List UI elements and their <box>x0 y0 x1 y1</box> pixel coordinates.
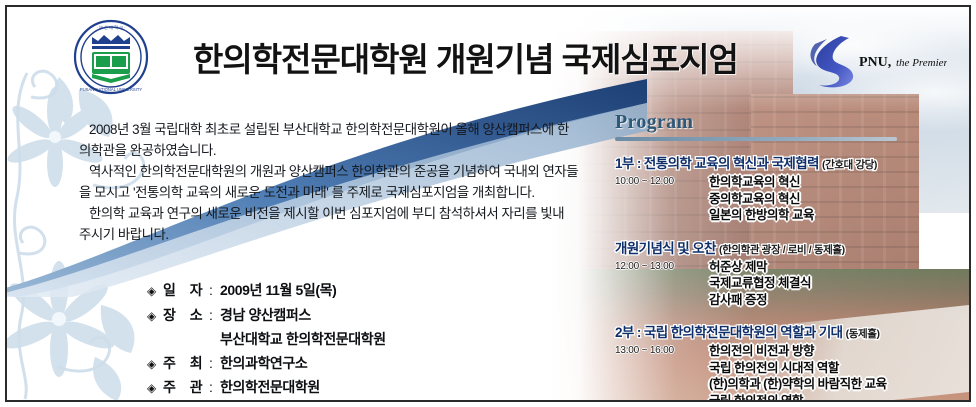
info-label-venue: 장 소 <box>163 304 209 328</box>
program-item: (한)의학과 (한)약학의 바람직한 교육 <box>709 376 971 393</box>
info-colon-host: : <box>209 352 220 376</box>
program-item: 일본의 한방의학 교육 <box>709 207 971 224</box>
info-value-date: 2009년 11월 5일(목) <box>220 279 336 303</box>
program-time-ceremony: 12:00 ~ 13:00 <box>615 259 697 309</box>
program-section-heading-part1: 1부 : 전통의학 교육의 혁신과 국제협력 (간호대 강당) <box>615 152 971 172</box>
program-items-ceremony: 허준상 제막 국제교류협정 체결식 감사패 증정 <box>697 259 971 309</box>
program-section-venue-part2: (동제홀) <box>846 328 880 340</box>
program-section-heading-ceremony: 개원기념식 및 오찬 (한의학관 광장 / 로비 / 동제홀) <box>615 237 971 257</box>
program-item: 국립 한의전의 시대적 역할 <box>709 360 971 377</box>
program-divider <box>615 137 897 141</box>
program-section-ceremony: 개원기념식 및 오찬 (한의학관 광장 / 로비 / 동제홀) 12:00 ~ … <box>615 237 971 309</box>
info-row-date: ◈ 일 자 : 2009년 11월 5일(목) <box>147 279 386 304</box>
pnu-the-premier-logo-icon: PNU, the Premier! <box>797 33 947 91</box>
program-section-title-part2: 2부 : 국립 한의학전문대학원의 역할과 기대 <box>615 325 843 340</box>
program-section-body-part1: 10:00 ~ 12:00 한의학교육의 혁신 중의학교육의 혁신 일본의 한방… <box>615 174 971 224</box>
program-section-venue-part1: (간호대 강당) <box>822 159 877 171</box>
info-row-venue: ◈ 장 소 : 경남 양산캠퍼스 <box>147 304 386 329</box>
info-colon-venue: : <box>209 304 220 328</box>
program-panel: Program 1부 : 전통의학 교육의 혁신과 국제협력 (간호대 강당) … <box>615 111 971 402</box>
svg-text:PUSAN NATIONAL UNIVERSITY: PUSAN NATIONAL UNIVERSITY <box>80 87 143 92</box>
program-heading: Program <box>615 111 971 134</box>
info-colon-organizer: : <box>209 376 220 400</box>
event-info-list: ◈ 일 자 : 2009년 11월 5일(목) ◈ 장 소 : 경남 양산캠퍼스… <box>147 279 386 401</box>
intro-text: 2008년 3월 국립대학 최초로 설립된 부산대학교 한의학전문대학원이 올해… <box>79 119 579 245</box>
program-items-part1: 한의학교육의 혁신 중의학교육의 혁신 일본의 한방의학 교육 <box>697 174 971 224</box>
info-label-organizer: 주 관 <box>163 376 209 400</box>
info-value-venue: 경남 양산캠퍼스 <box>220 304 311 328</box>
svg-text:PNU,: PNU, <box>859 55 891 70</box>
program-item: 한의전의 비전과 방향 <box>709 343 971 360</box>
program-item: 중의학교육의 혁신 <box>709 191 971 208</box>
info-label-host: 주 최 <box>163 352 209 376</box>
program-section-part2: 2부 : 국립 한의학전문대학원의 역할과 기대 (동제홀) 13:00 ~ 1… <box>615 321 971 402</box>
info-value-organizer: 한의학전문대학원 <box>220 376 320 400</box>
program-time-part1: 10:00 ~ 12:00 <box>615 174 697 224</box>
program-section-body-ceremony: 12:00 ~ 13:00 허준상 제막 국제교류협정 체결식 감사패 증정 <box>615 259 971 309</box>
svg-text:the Premier!: the Premier! <box>896 57 947 69</box>
banner-frame: · 부 산 대 학 교 · PUSAN NATIONAL UNIVERSITY … <box>5 5 971 402</box>
program-section-title-part1: 1부 : 전통의학 교육의 혁신과 국제협력 <box>615 156 819 171</box>
program-section-part1: 1부 : 전통의학 교육의 혁신과 국제협력 (간호대 강당) 10:00 ~ … <box>615 152 971 224</box>
page-title: 한의학전문대학원 개원기념 국제심포지엄 <box>193 33 813 81</box>
info-colon-date: : <box>209 279 220 303</box>
diamond-bullet-icon: ◈ <box>147 280 163 304</box>
info-value-host: 한의과학연구소 <box>220 352 307 376</box>
program-section-title-ceremony: 개원기념식 및 오찬 <box>615 241 716 256</box>
svg-text:· 부 산 대 학 교 ·: · 부 산 대 학 교 · <box>96 24 125 31</box>
program-section-body-part2: 13:00 ~ 16:00 한의전의 비전과 방향 국립 한의전의 시대적 역할… <box>615 343 971 402</box>
program-item: 국립 한의전의 역할 <box>709 393 971 403</box>
info-value-venue-2: 부산대학교 한의학전문대학원 <box>220 328 386 352</box>
program-items-part2: 한의전의 비전과 방향 국립 한의전의 시대적 역할 (한)의학과 (한)약학의… <box>697 343 971 402</box>
program-item: 한의학교육의 혁신 <box>709 174 971 191</box>
program-item: 허준상 제막 <box>709 259 971 276</box>
diamond-bullet-icon: ◈ <box>147 305 163 329</box>
info-row-host: ◈ 주 최 : 한의과학연구소 <box>147 352 386 377</box>
diamond-bullet-icon: ◈ <box>147 377 163 401</box>
diamond-bullet-icon: ◈ <box>147 353 163 377</box>
program-item: 감사패 증정 <box>709 292 971 309</box>
pusan-national-university-seal-icon: · 부 산 대 학 교 · PUSAN NATIONAL UNIVERSITY <box>73 19 149 95</box>
program-time-part2: 13:00 ~ 16:00 <box>615 343 697 402</box>
program-section-venue-ceremony: (한의학관 광장 / 로비 / 동제홀) <box>719 244 845 256</box>
intro-paragraph-1: 2008년 3월 국립대학 최초로 설립된 부산대학교 한의학전문대학원이 올해… <box>79 119 579 161</box>
program-item: 국제교류협정 체결식 <box>709 275 971 292</box>
info-row-venue-second-line: 부산대학교 한의학전문대학원 <box>220 328 386 352</box>
info-label-date: 일 자 <box>163 279 209 303</box>
symposium-banner: · 부 산 대 학 교 · PUSAN NATIONAL UNIVERSITY … <box>0 0 976 407</box>
intro-paragraph-3: 한의학 교육과 연구의 새로운 비전을 제시할 이번 심포지엄에 부디 참석하셔… <box>79 203 579 245</box>
program-section-heading-part2: 2부 : 국립 한의학전문대학원의 역할과 기대 (동제홀) <box>615 321 971 341</box>
info-row-organizer: ◈ 주 관 : 한의학전문대학원 <box>147 376 386 401</box>
intro-paragraph-2: 역사적인 한의학전문대학원의 개원과 양산캠퍼스 한의학관의 준공을 기념하여 … <box>79 161 579 203</box>
